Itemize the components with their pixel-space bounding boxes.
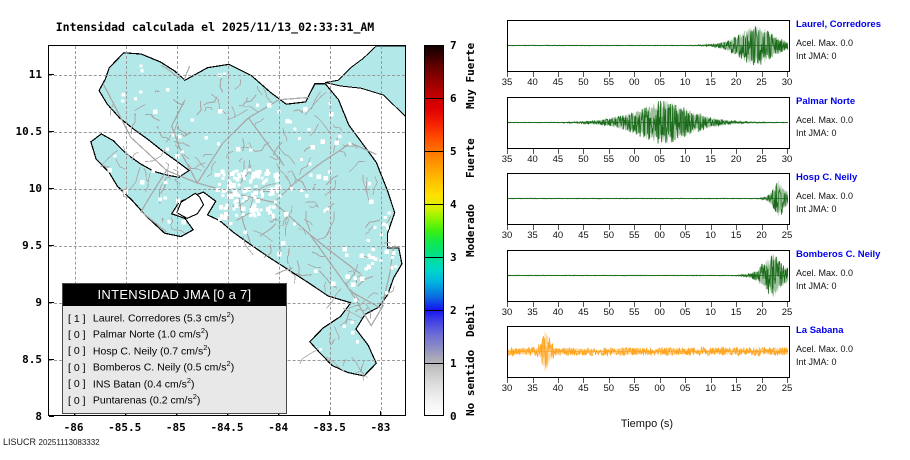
time-axis-tick-label: 00: [648, 307, 672, 318]
legend-intensity-bracket: [ 0 ]: [68, 394, 90, 409]
seismogram-int-jma: Int JMA: 0: [796, 51, 910, 61]
legend-station-row: [ 0 ] Puntarenas (0.2 cm/s2): [68, 392, 286, 408]
time-axis-tick-label: 10: [699, 383, 723, 394]
legend-station-row: [ 1 ] Laurel. Corredores (5.3 cm/s2): [68, 310, 286, 326]
seismogram-trace-box[interactable]: [507, 326, 790, 378]
legend-intensity-bracket: [ 0 ]: [68, 361, 90, 376]
time-axis-tick-label: 05: [648, 77, 672, 88]
page-title: Intensidad calculada el 2025/11/13_02:33…: [0, 20, 430, 34]
time-axis-tick-label: 35: [521, 307, 545, 318]
legend-station-name: Hosp C. Neily (0.7 cm/s: [90, 345, 203, 357]
seismogram-int-jma: Int JMA: 0: [796, 357, 910, 367]
legend-station-list: [ 1 ] Laurel. Corredores (5.3 cm/s2)[ 0 …: [63, 306, 286, 413]
time-axis-tick-label: 25: [750, 77, 774, 88]
intensity-colorbar: 01234567No sentidoDebilModeradoFuerteMuy…: [424, 45, 484, 416]
legend-paren-close: ): [231, 313, 235, 325]
map-y-tick-label: 8.5: [0, 353, 42, 366]
time-axis-tick-label: 55: [622, 230, 646, 241]
seismogram-trace-box[interactable]: [507, 250, 790, 302]
time-axis-tick-label: 25: [775, 230, 799, 241]
time-axis-tick-label: 45: [571, 307, 595, 318]
waveform-trace: [508, 98, 788, 147]
seismogram-panel[interactable]: 303540455055000510152025La SabanaAcel. M…: [500, 326, 910, 400]
map-y-tick-label: 10.5: [0, 125, 42, 138]
map-y-tick-label: 9: [0, 296, 42, 309]
time-axis-tick-label: 05: [673, 307, 697, 318]
legend-station-name: Bomberos C. Neily (0.5 cm/s: [90, 362, 227, 374]
legend-paren-close: ): [191, 378, 195, 390]
legend-station-row: [ 0 ] Bomberos C. Neily (0.5 cm/s2): [68, 359, 286, 375]
map-y-tickmark: [49, 131, 54, 132]
footer-credit: LISUCR 20251113083332: [3, 437, 100, 447]
colorbar-category-label: Debil: [464, 303, 477, 336]
time-axis-tick-label: 20: [750, 383, 774, 394]
legend-intensity-bracket: [ 1 ]: [68, 312, 90, 327]
time-axis-tick-label: 45: [571, 383, 595, 394]
map-y-tick-label: 9.5: [0, 239, 42, 252]
time-axis-tick-label: 10: [673, 154, 697, 165]
seismogram-trace-box[interactable]: [507, 173, 790, 225]
colorbar-category-label: Fuerte: [464, 138, 477, 178]
seismogram-trace-box[interactable]: [507, 20, 790, 72]
time-axis-tick-label: 45: [546, 77, 570, 88]
footer-timestamp: 20251113083332: [39, 438, 100, 447]
time-axis-tick-label: 15: [724, 383, 748, 394]
time-axis-tick-label: 30: [775, 154, 799, 165]
time-axis-tick-label: 55: [597, 77, 621, 88]
legend-paren-close: ): [205, 329, 209, 341]
legend-station-row: [ 0 ] Hosp C. Neily (0.7 cm/s2): [68, 343, 286, 359]
legend-paren-close: ): [207, 345, 211, 357]
time-axis-tick-labels: 354045505500051015202530: [500, 77, 800, 91]
time-axis-tick-label: 45: [546, 154, 570, 165]
legend-station-name: Palmar Norte (1.0 cm/s: [90, 329, 201, 341]
time-axis-tick-label: 25: [750, 154, 774, 165]
time-axis-tick-label: 10: [699, 307, 723, 318]
legend-station-name: INS Batan (0.4 cm/s: [90, 378, 187, 390]
seismogram-station-name[interactable]: Palmar Norte: [796, 96, 910, 107]
legend-station-row: [ 0 ] Palmar Norte (1.0 cm/s2): [68, 326, 286, 342]
map-legend-box: INTENSIDAD JMA [0 a 7] [ 1 ] Laurel. Cor…: [62, 283, 287, 414]
seismogram-int-jma: Int JMA: 0: [796, 281, 910, 291]
time-axis-tick-label: 35: [495, 154, 519, 165]
seismogram-station-name[interactable]: Hosp C. Neily: [796, 172, 910, 183]
legend-intensity-bracket: [ 0 ]: [68, 377, 90, 392]
time-axis-tick-label: 20: [750, 307, 774, 318]
time-axis-tick-label: 30: [775, 77, 799, 88]
legend-intensity-bracket: [ 0 ]: [68, 328, 90, 343]
time-axis-tick-label: 30: [495, 307, 519, 318]
time-axis-tick-label: 50: [571, 154, 595, 165]
time-axis-tick-label: 10: [699, 230, 723, 241]
seismogram-accel-max: Acel. Max. 0.0: [796, 268, 910, 278]
time-axis-tick-label: 30: [495, 383, 519, 394]
time-axis-tick-label: 50: [597, 230, 621, 241]
time-axis-tick-label: 15: [724, 307, 748, 318]
map-y-tick-label: 11: [0, 68, 42, 81]
map-gridline-horizontal: [49, 75, 405, 76]
map-gridline-horizontal: [49, 132, 405, 133]
legend-station-row: [ 0 ] INS Batan (0.4 cm/s2): [68, 376, 286, 392]
colorbar-category-label: No sentido: [464, 350, 477, 416]
map-y-tickmark: [49, 188, 54, 189]
colorbar-tickmark: [424, 257, 444, 258]
legend-station-name: Laurel. Corredores (5.3 cm/s: [90, 313, 227, 325]
time-axis-tick-label: 20: [724, 154, 748, 165]
legend-paren-close: ): [197, 395, 201, 407]
seismogram-panel[interactable]: 303540455055000510152025Hosp C. NeilyAce…: [500, 173, 910, 247]
time-axis-tick-label: 40: [521, 77, 545, 88]
map-y-tickmark: [49, 74, 54, 75]
map-y-tick-label: 10: [0, 182, 42, 195]
seismogram-accel-max: Acel. Max. 0.0: [796, 191, 910, 201]
seismogram-panel[interactable]: 354045505500051015202530Laurel, Corredor…: [500, 20, 910, 94]
map-y-tickmark: [49, 302, 54, 303]
time-axis-tick-label: 25: [775, 307, 799, 318]
seismogram-station-name[interactable]: La Sabana: [796, 325, 910, 336]
time-axis-tick-label: 30: [495, 230, 519, 241]
colorbar-tickmark: [424, 204, 444, 205]
seismogram-int-jma: Int JMA: 0: [796, 128, 910, 138]
map-y-tickmark: [49, 359, 54, 360]
seismogram-station-name[interactable]: Laurel, Corredores: [796, 19, 910, 30]
map-gridline-horizontal: [49, 189, 405, 190]
time-axis-tick-label: 55: [597, 154, 621, 165]
legend-paren-close: ): [231, 362, 235, 374]
time-axis-tick-label: 05: [648, 154, 672, 165]
time-axis-tick-labels: 354045505500051015202530: [500, 154, 800, 168]
time-axis-tick-label: 05: [673, 383, 697, 394]
seismic-intensity-report: Intensidad calculada el 2025/11/13_02:33…: [0, 0, 910, 460]
map-y-tickmark: [49, 416, 54, 417]
time-axis-tick-label: 35: [521, 230, 545, 241]
seismogram-station-name[interactable]: Bomberos C. Neily: [796, 249, 910, 260]
time-axis-tick-label: 45: [571, 230, 595, 241]
colorbar-category-label: Moderado: [464, 204, 477, 257]
time-axis-tick-label: 35: [495, 77, 519, 88]
time-axis-tick-label: 50: [597, 307, 621, 318]
colorbar-gradient: [424, 45, 444, 416]
seismogram-accel-max: Acel. Max. 0.0: [796, 38, 910, 48]
time-axis-tick-label: 55: [622, 307, 646, 318]
seismogram-trace-box[interactable]: [507, 97, 790, 149]
time-axis-tick-label: 00: [622, 154, 646, 165]
time-axis-tick-label: 50: [597, 383, 621, 394]
map-y-tick-label: 8: [0, 410, 42, 423]
seismogram-panel[interactable]: 354045505500051015202530Palmar NorteAcel…: [500, 97, 910, 171]
waveform-trace: [508, 251, 788, 300]
time-axis-tick-label: 40: [546, 230, 570, 241]
colorbar-tickmark: [424, 363, 444, 364]
map-x-tickmark: [380, 411, 381, 416]
time-axis-tick-label: 20: [724, 77, 748, 88]
time-axis-tick-labels: 303540455055000510152025: [500, 230, 800, 244]
waveform-trace: [508, 327, 788, 376]
map-x-tickmark: [329, 411, 330, 416]
time-axis-tick-label: 15: [699, 154, 723, 165]
seismogram-x-axis-label: Tiempo (s): [507, 418, 787, 430]
time-axis-tick-label: 40: [521, 154, 545, 165]
time-axis-tick-label: 15: [724, 230, 748, 241]
colorbar-tickmark: [424, 151, 444, 152]
colorbar-category-label: Muy Fuerte: [464, 42, 477, 108]
legend-title: INTENSIDAD JMA [0 a 7]: [63, 284, 286, 306]
time-axis-tick-label: 00: [648, 230, 672, 241]
time-axis-tick-label: 00: [648, 383, 672, 394]
time-axis-tick-label: 40: [546, 383, 570, 394]
map-x-tick-label: -83: [350, 421, 410, 434]
legend-intensity-bracket: [ 0 ]: [68, 344, 90, 359]
time-axis-tick-label: 40: [546, 307, 570, 318]
seismogram-int-jma: Int JMA: 0: [796, 204, 910, 214]
time-axis-tick-label: 05: [673, 230, 697, 241]
seismogram-accel-max: Acel. Max. 0.0: [796, 344, 910, 354]
time-axis-tick-label: 25: [775, 383, 799, 394]
seismogram-panel[interactable]: 303540455055000510152025Bomberos C. Neil…: [500, 250, 910, 324]
time-axis-tick-label: 55: [622, 383, 646, 394]
time-axis-tick-label: 20: [750, 230, 774, 241]
map-gridline-horizontal: [49, 246, 405, 247]
waveform-trace: [508, 21, 788, 70]
map-gridline-vertical: [381, 46, 382, 415]
waveform-trace: [508, 174, 788, 223]
time-axis-tick-labels: 303540455055000510152025: [500, 383, 800, 397]
footer-agency: LISUCR: [3, 437, 36, 447]
map-gridline-vertical: [330, 46, 331, 415]
seismogram-column: 354045505500051015202530Laurel, Corredor…: [500, 20, 910, 440]
colorbar-tickmark: [424, 98, 444, 99]
colorbar-tickmark: [424, 310, 444, 311]
time-axis-tick-labels: 303540455055000510152025: [500, 307, 800, 321]
time-axis-tick-label: 00: [622, 77, 646, 88]
time-axis-tick-label: 35: [521, 383, 545, 394]
seismogram-accel-max: Acel. Max. 0.0: [796, 115, 910, 125]
legend-station-name: Puntarenas (0.2 cm/s: [90, 395, 193, 407]
time-axis-tick-label: 10: [673, 77, 697, 88]
time-axis-tick-label: 15: [699, 77, 723, 88]
time-axis-tick-label: 50: [571, 77, 595, 88]
map-y-tickmark: [49, 245, 54, 246]
